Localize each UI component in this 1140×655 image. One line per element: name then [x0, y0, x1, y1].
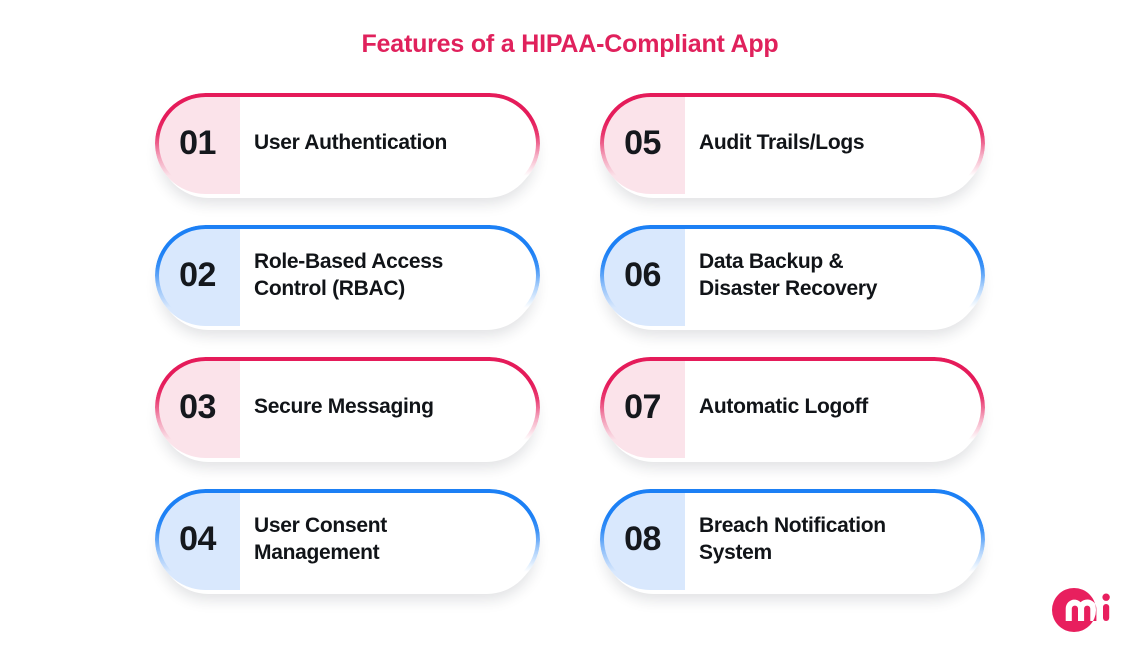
feature-card-01[interactable]: 01User Authentication	[155, 93, 540, 194]
feature-card-body: 02Role-Based Access Control (RBAC)	[155, 225, 540, 326]
feature-card-label: Breach Notification System	[685, 489, 985, 590]
feature-card-label: Automatic Logoff	[685, 357, 985, 458]
feature-card-number: 05	[600, 93, 685, 194]
mi-monogram-logo	[1051, 587, 1115, 633]
feature-card-number: 02	[155, 225, 240, 326]
feature-card-body: 05Audit Trails/Logs	[600, 93, 985, 194]
feature-card-08[interactable]: 08Breach Notification System	[600, 489, 985, 590]
feature-card-number: 01	[155, 93, 240, 194]
feature-card-07[interactable]: 07Automatic Logoff	[600, 357, 985, 458]
feature-card-label: Audit Trails/Logs	[685, 93, 985, 194]
feature-card-06[interactable]: 06Data Backup & Disaster Recovery	[600, 225, 985, 326]
feature-card-label: Data Backup & Disaster Recovery	[685, 225, 985, 326]
feature-card-body: 07Automatic Logoff	[600, 357, 985, 458]
feature-card-body: 01User Authentication	[155, 93, 540, 194]
feature-card-body: 04User Consent Management	[155, 489, 540, 590]
feature-card-body: 03Secure Messaging	[155, 357, 540, 458]
feature-card-03[interactable]: 03Secure Messaging	[155, 357, 540, 458]
feature-card-body: 08Breach Notification System	[600, 489, 985, 590]
feature-card-label: Role-Based Access Control (RBAC)	[240, 225, 540, 326]
feature-card-label: User Authentication	[240, 93, 540, 194]
page-title: Features of a HIPAA-Compliant App	[0, 30, 1140, 59]
feature-card-number: 07	[600, 357, 685, 458]
feature-card-grid: 01User Authentication05Audit Trails/Logs…	[155, 93, 985, 590]
feature-card-04[interactable]: 04User Consent Management	[155, 489, 540, 590]
feature-card-number: 03	[155, 357, 240, 458]
feature-card-05[interactable]: 05Audit Trails/Logs	[600, 93, 985, 194]
feature-card-label: Secure Messaging	[240, 357, 540, 458]
feature-card-number: 04	[155, 489, 240, 590]
feature-card-number: 08	[600, 489, 685, 590]
feature-card-02[interactable]: 02Role-Based Access Control (RBAC)	[155, 225, 540, 326]
feature-card-number: 06	[600, 225, 685, 326]
feature-card-label: User Consent Management	[240, 489, 540, 590]
feature-card-body: 06Data Backup & Disaster Recovery	[600, 225, 985, 326]
